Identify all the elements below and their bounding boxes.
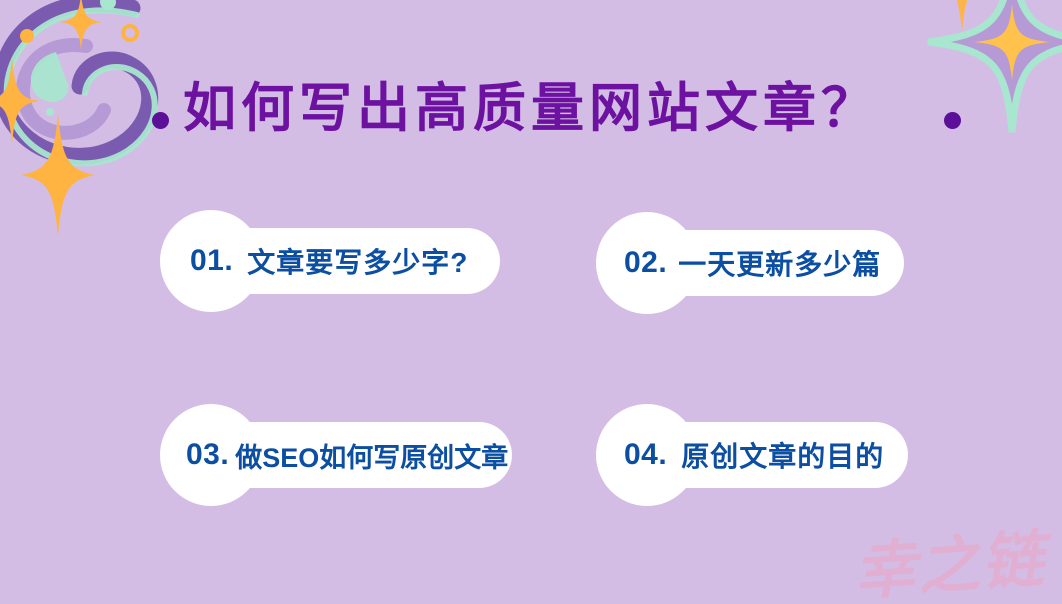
topic-card-02[interactable]: 02. 一天更新多少篇 [596,230,904,296]
card-03-label: 03. 做SEO如何写原创文章 [160,422,512,488]
card-04-text: 原创文章的目的 [681,435,884,475]
card-04-number: 04. [624,438,667,472]
card-01-number: 01. [190,244,233,278]
card-01-text: 文章要写多少字? [247,241,468,281]
topic-card-04[interactable]: 04. 原创文章的目的 [596,422,908,488]
poster-canvas: 如何写出高质量网站文章？ 01. 文章要写多少字? 02. 一天更新多少篇 03… [0,0,1062,604]
sparkle-top-icon [58,0,104,52]
topic-card-03[interactable]: 03. 做SEO如何写原创文章 [160,422,512,488]
card-03-number: 03. [186,438,229,472]
title-bullet-right-icon [944,112,961,129]
card-02-text: 一天更新多少篇 [678,243,881,283]
card-03-text: 做SEO如何写原创文章 [235,436,508,475]
topic-card-01[interactable]: 01. 文章要写多少字? [160,228,500,294]
card-02-label: 02. 一天更新多少篇 [596,230,904,296]
card-02-number: 02. [624,246,667,280]
watermark: 幸之链 [850,508,1048,604]
card-01-label: 01. 文章要写多少字? [160,228,500,294]
card-04-label: 04. 原创文章的目的 [596,422,908,488]
page-title: 如何写出高质量网站文章？ [0,82,1062,135]
